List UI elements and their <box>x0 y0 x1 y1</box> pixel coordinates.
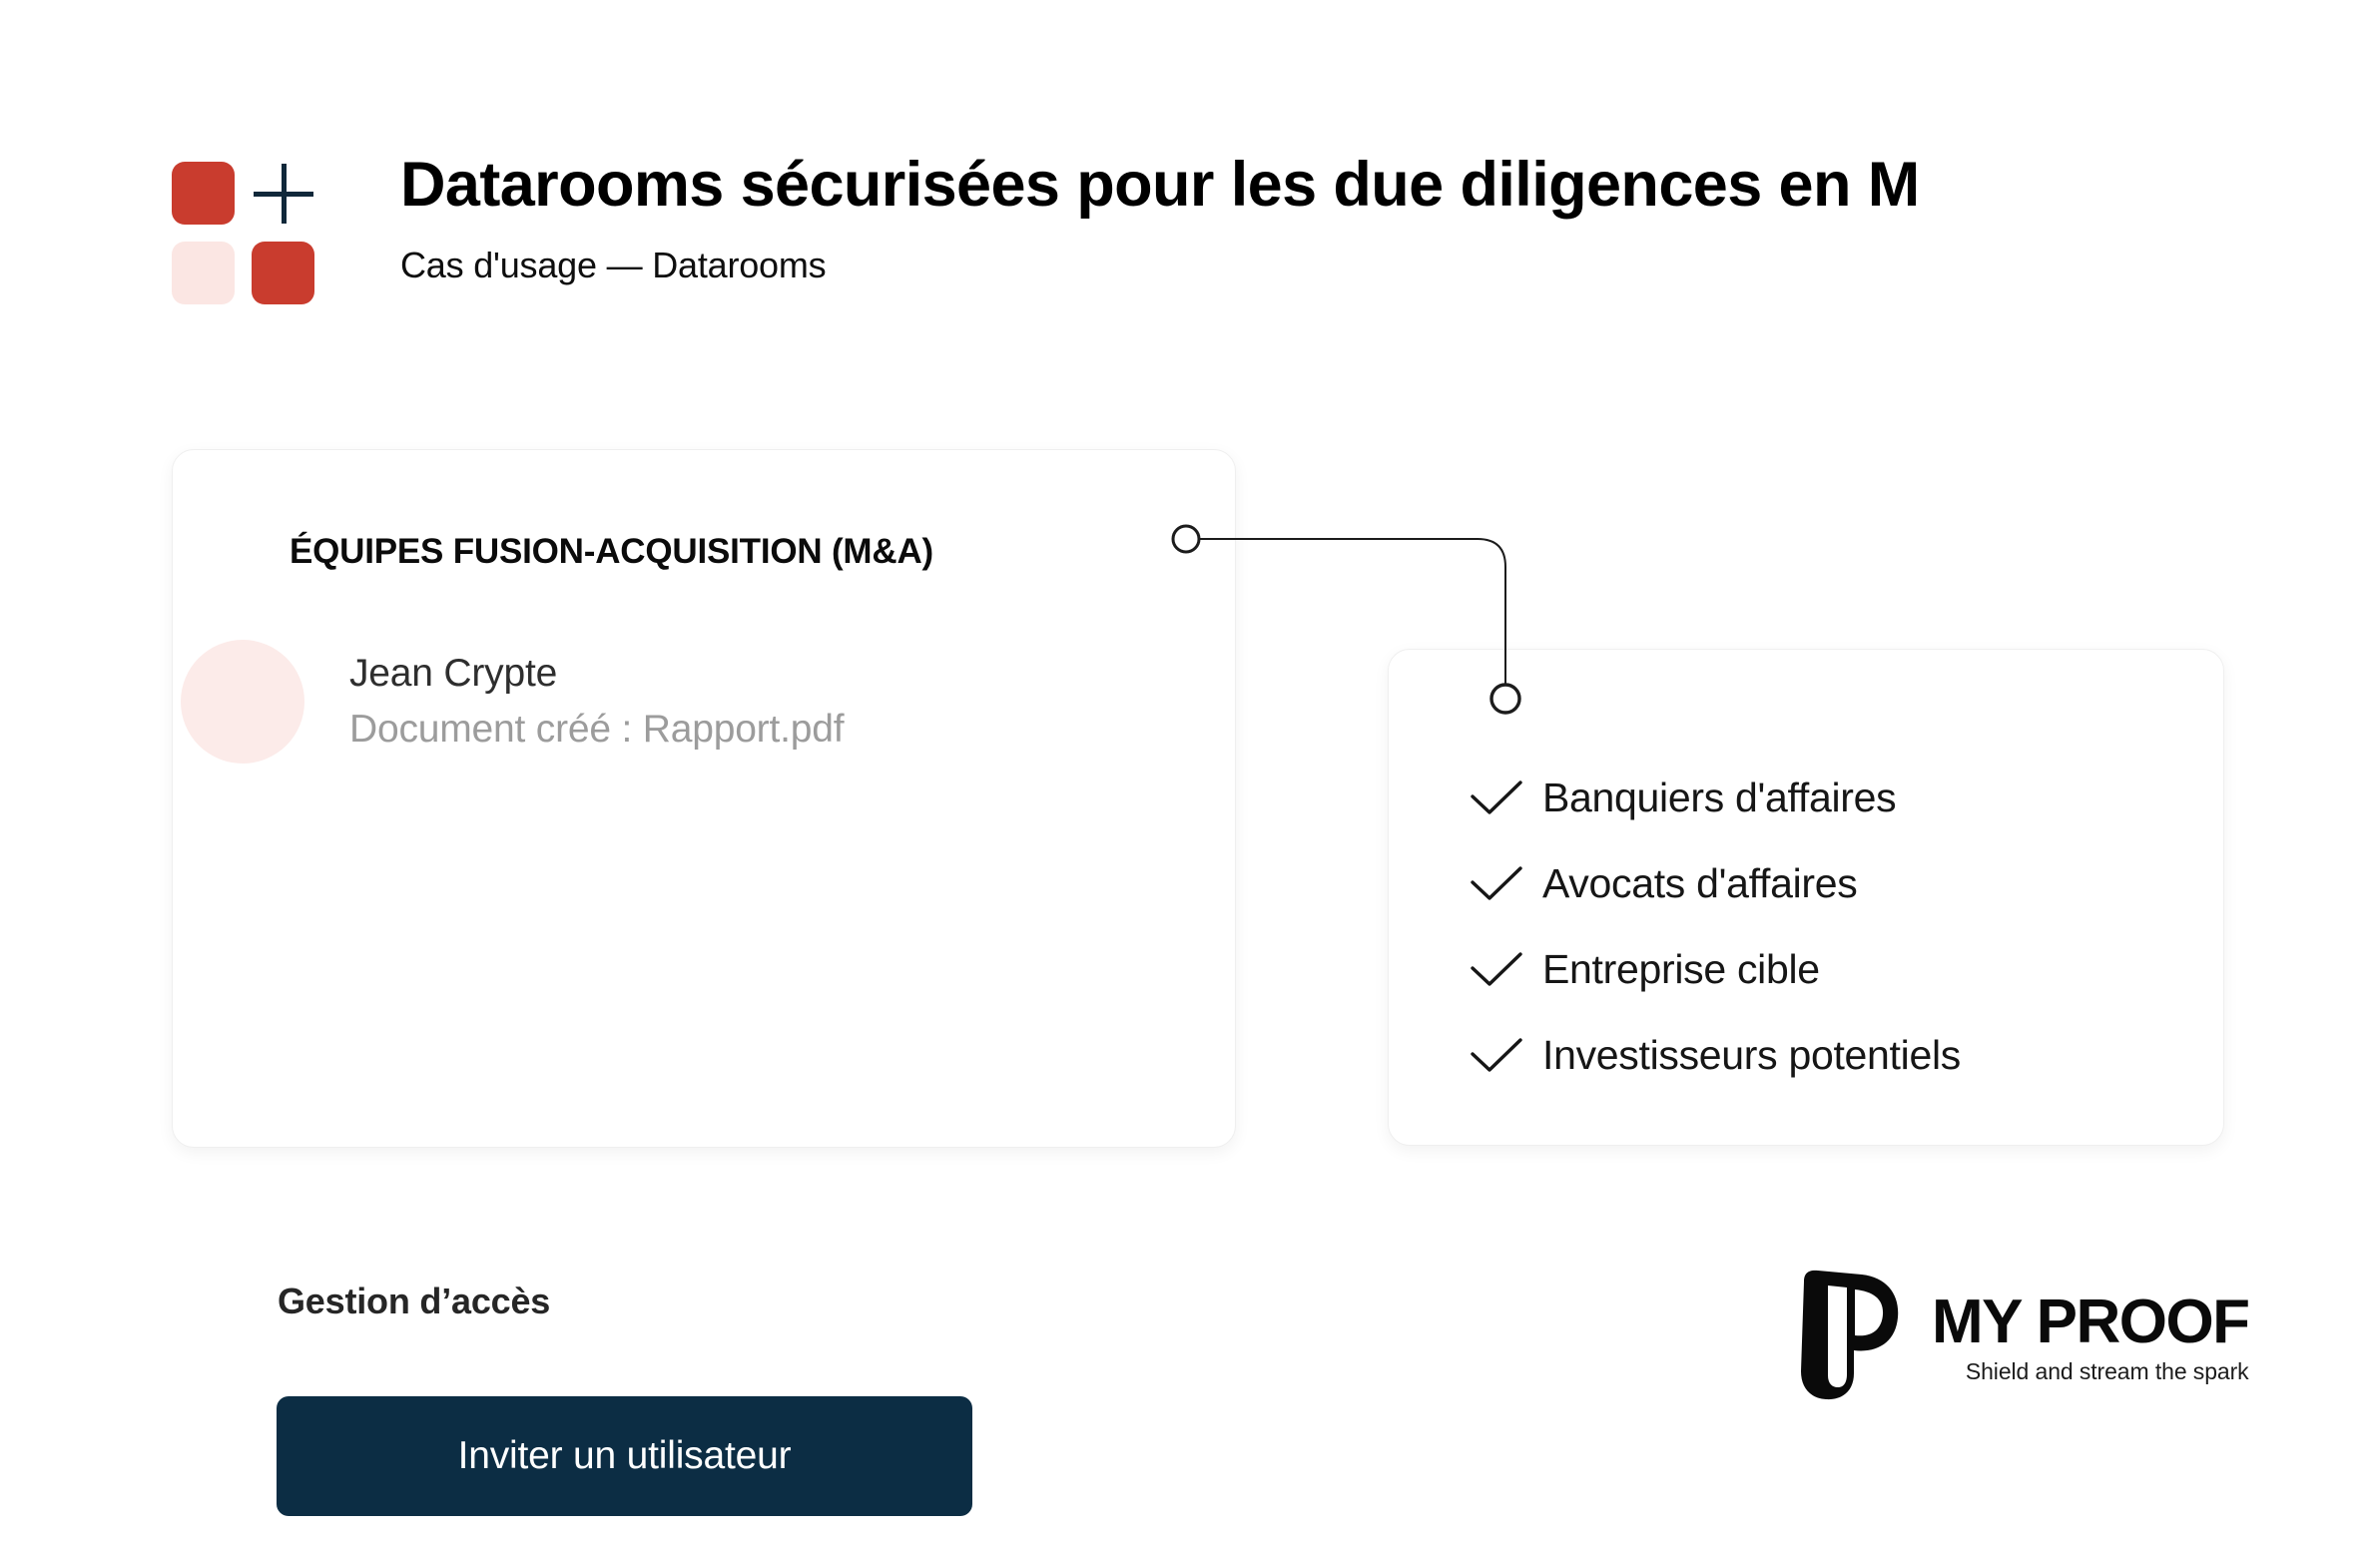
brand-tagline: Shield and stream the spark <box>1932 1358 2249 1385</box>
pale-square-icon <box>172 242 235 304</box>
myproof-logo: MY PROOF Shield and stream the spark <box>1792 1268 2249 1402</box>
user-activity-row: Jean Crypte Document créé : Rapport.pdf <box>181 640 844 764</box>
invite-user-button[interactable]: Inviter un utilisateur <box>277 1396 972 1516</box>
access-management-label: Gestion d’accès <box>278 1281 550 1322</box>
ma-teams-card: ÉQUIPES FUSION-ACQUISITION (M&A) Jean Cr… <box>172 449 1236 1148</box>
page-header: Datarooms sécurisées pour les due dilige… <box>172 148 1920 307</box>
red-square-icon <box>172 162 235 225</box>
myproof-wordmark: MY PROOF Shield and stream the spark <box>1932 1286 2249 1385</box>
list-item: Avocats d'affaires <box>1467 840 2165 926</box>
list-item-label: Banquiers d'affaires <box>1542 774 1896 821</box>
user-name: Jean Crypte <box>349 649 844 699</box>
plus-icon <box>252 162 314 225</box>
header-text-group: Datarooms sécurisées pour les due dilige… <box>400 148 1920 286</box>
slide-canvas: Datarooms sécurisées pour les due dilige… <box>0 0 2380 1545</box>
check-icon <box>1467 775 1526 819</box>
list-item-label: Investisseurs potentiels <box>1542 1032 1961 1079</box>
page-subtitle: Cas d'usage — Datarooms <box>400 245 1920 286</box>
brand-logo-mark <box>172 162 317 307</box>
myproof-glyph-icon <box>1792 1268 1904 1402</box>
participants-card: Banquiers d'affaires Avocats d'affaires … <box>1388 649 2224 1146</box>
avatar <box>181 640 304 764</box>
list-item: Investisseurs potentiels <box>1467 1012 2165 1098</box>
brand-name: MY PROOF <box>1932 1291 2249 1353</box>
list-item: Entreprise cible <box>1467 926 2165 1012</box>
participants-checklist: Banquiers d'affaires Avocats d'affaires … <box>1467 755 2165 1098</box>
check-icon <box>1467 1033 1526 1077</box>
user-activity-text: Document créé : Rapport.pdf <box>349 705 844 755</box>
red-square-icon <box>252 242 314 304</box>
list-item-label: Entreprise cible <box>1542 946 1820 993</box>
check-icon <box>1467 861 1526 905</box>
card-title-ma-teams: ÉQUIPES FUSION-ACQUISITION (M&A) <box>290 532 933 572</box>
list-item: Banquiers d'affaires <box>1467 755 2165 840</box>
list-item-label: Avocats d'affaires <box>1542 860 1857 907</box>
check-icon <box>1467 947 1526 991</box>
user-meta: Jean Crypte Document créé : Rapport.pdf <box>349 649 844 755</box>
page-title: Datarooms sécurisées pour les due dilige… <box>400 152 1920 219</box>
